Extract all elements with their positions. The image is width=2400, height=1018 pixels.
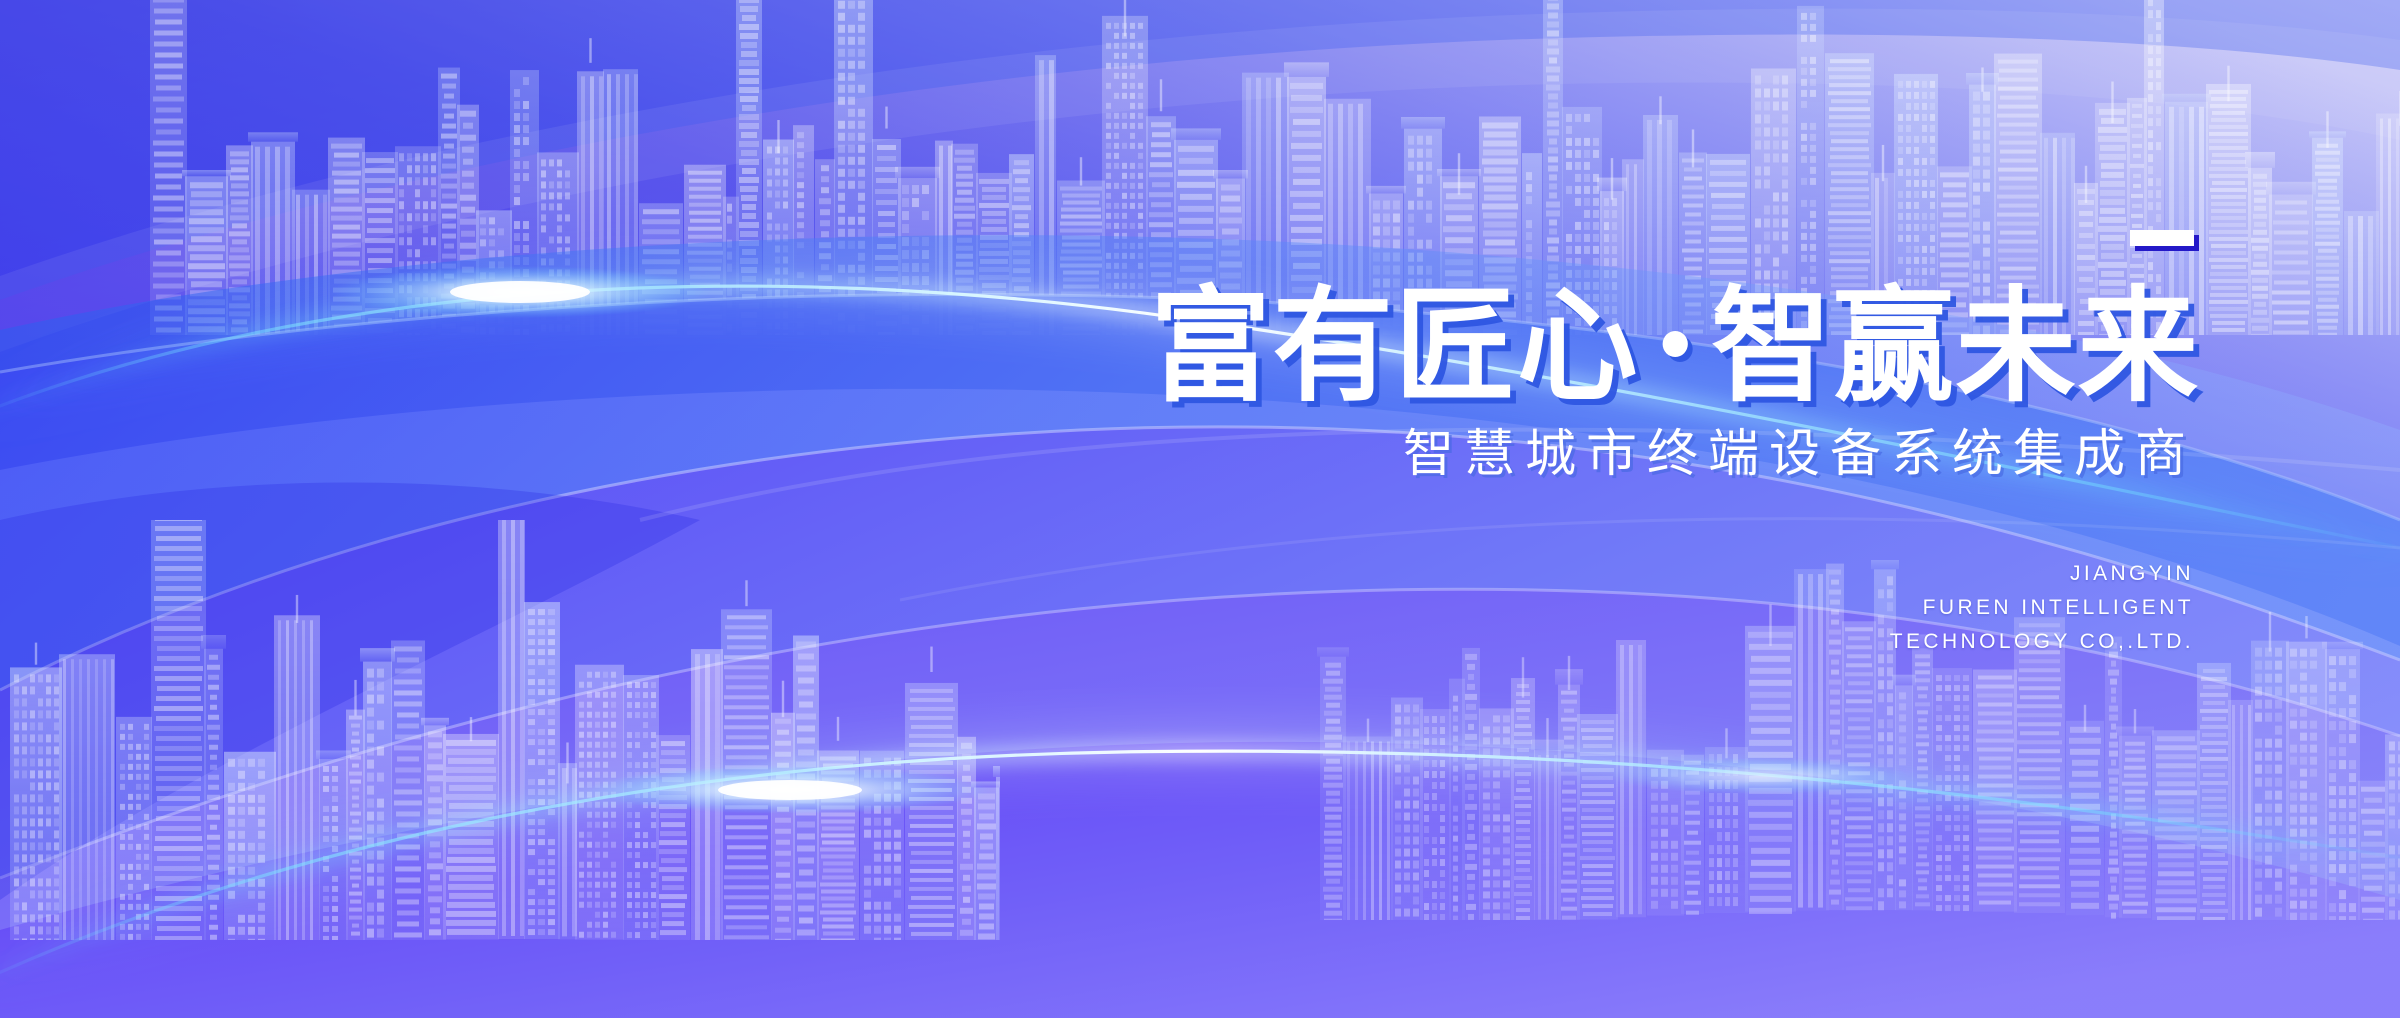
subtitle: 智慧城市终端设备系统集成商: [1000, 427, 2200, 483]
headline-separator-dot: [1663, 331, 1688, 357]
page-title: 富有匠心智赢未来: [1036, 285, 2200, 409]
text-block: 富有匠心智赢未来 智慧城市终端设备系统集成商 JIANGYIN FUREN IN…: [1000, 230, 2200, 659]
company-line-3: TECHNOLOGY CO,.LTD.: [1000, 625, 2194, 659]
accent-bar-decoration: [2130, 230, 2194, 246]
banner-root: 富有匠心智赢未来 智慧城市终端设备系统集成商 JIANGYIN FUREN IN…: [0, 0, 2400, 1018]
company-line-1: JIANGYIN: [1000, 557, 2194, 591]
company-name-block: JIANGYIN FUREN INTELLIGENT TECHNOLOGY CO…: [1000, 557, 2200, 659]
headline-part-1: 富有匠心: [1150, 275, 1639, 419]
headline-part-2: 智赢未来: [1711, 275, 2200, 419]
company-line-2: FUREN INTELLIGENT: [1000, 591, 2194, 625]
